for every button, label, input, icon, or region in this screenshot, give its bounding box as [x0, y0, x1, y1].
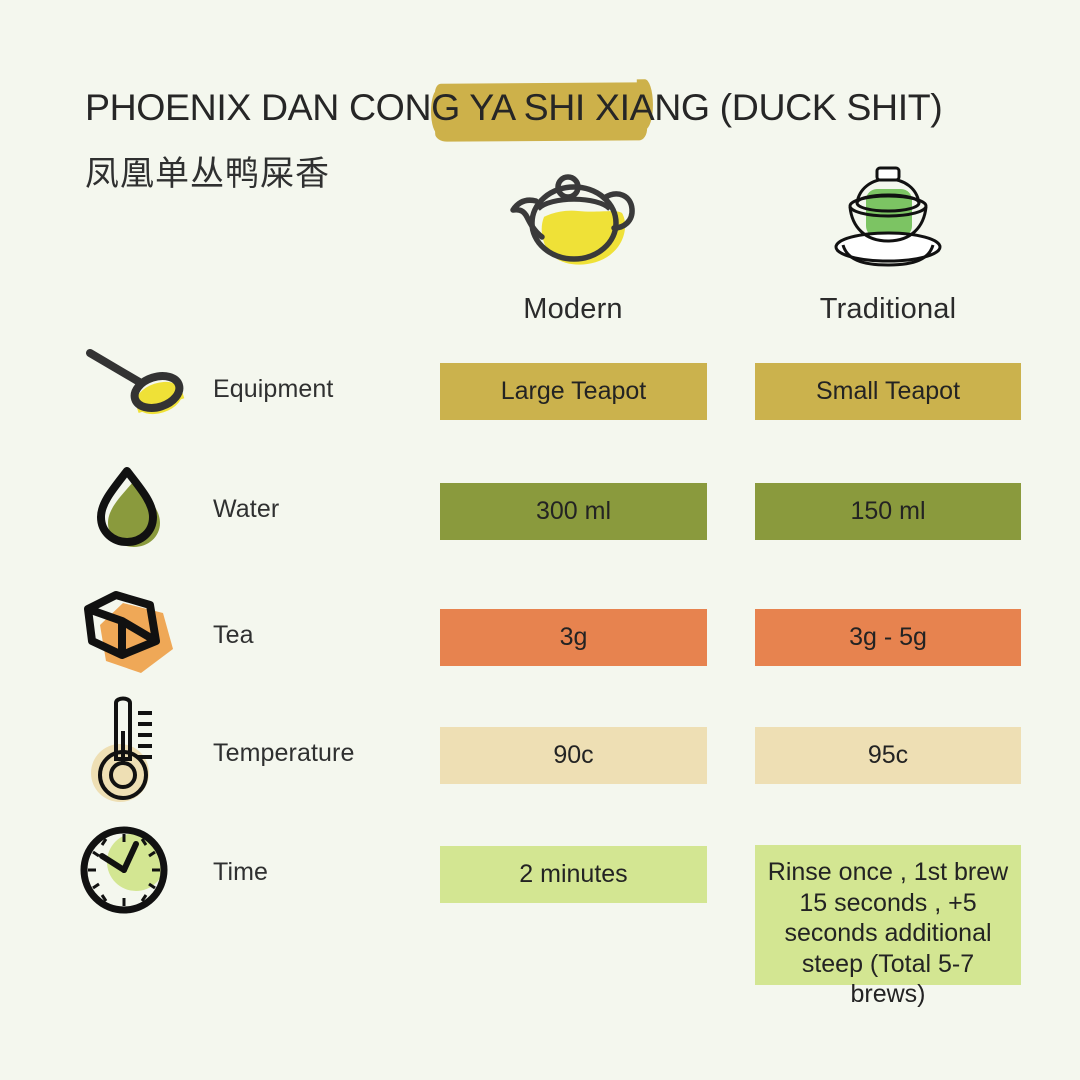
tea-cube-icon — [78, 585, 198, 685]
column-header-modern: Modern — [433, 165, 713, 326]
water-drop-icon — [78, 461, 198, 561]
thermometer-icon — [78, 697, 198, 797]
column-header-traditional: Traditional — [748, 165, 1028, 326]
cell-equipment-modern: Large Teapot — [440, 363, 707, 420]
row-label-time: Time — [213, 858, 268, 887]
cell-time-modern: 2 minutes — [440, 846, 707, 903]
page-subtitle-chinese: 凤凰单丛鸭屎香 — [85, 146, 330, 195]
cell-equipment-traditional: Small Teapot — [755, 363, 1021, 420]
title-block: PHOENIX DAN CONG YA SHI XIANG (DUCK SHIT… — [85, 88, 1025, 127]
cell-water-modern: 300 ml — [440, 483, 707, 540]
gaiwan-icon — [748, 165, 1028, 275]
page-title: PHOENIX DAN CONG YA SHI XIANG (DUCK SHIT… — [85, 88, 1025, 127]
clock-icon — [78, 821, 198, 921]
row-label-equipment: Equipment — [213, 375, 333, 404]
column-label-traditional: Traditional — [748, 293, 1028, 326]
column-label-modern: Modern — [433, 293, 713, 326]
cell-time-traditional: Rinse once , 1st brew 15 seconds , +5 se… — [755, 845, 1021, 985]
row-label-tea: Tea — [213, 621, 254, 650]
cell-water-traditional: 150 ml — [755, 483, 1021, 540]
infographic-canvas: PHOENIX DAN CONG YA SHI XIANG (DUCK SHIT… — [0, 0, 1080, 1080]
tea-scoop-icon — [78, 341, 198, 441]
cell-temperature-modern: 90c — [440, 727, 707, 784]
cell-tea-modern: 3g — [440, 609, 707, 666]
row-label-water: Water — [213, 495, 279, 524]
row-label-temperature: Temperature — [213, 739, 354, 768]
cell-temperature-traditional: 95c — [755, 727, 1021, 784]
teapot-icon — [433, 165, 713, 275]
cell-tea-traditional: 3g - 5g — [755, 609, 1021, 666]
